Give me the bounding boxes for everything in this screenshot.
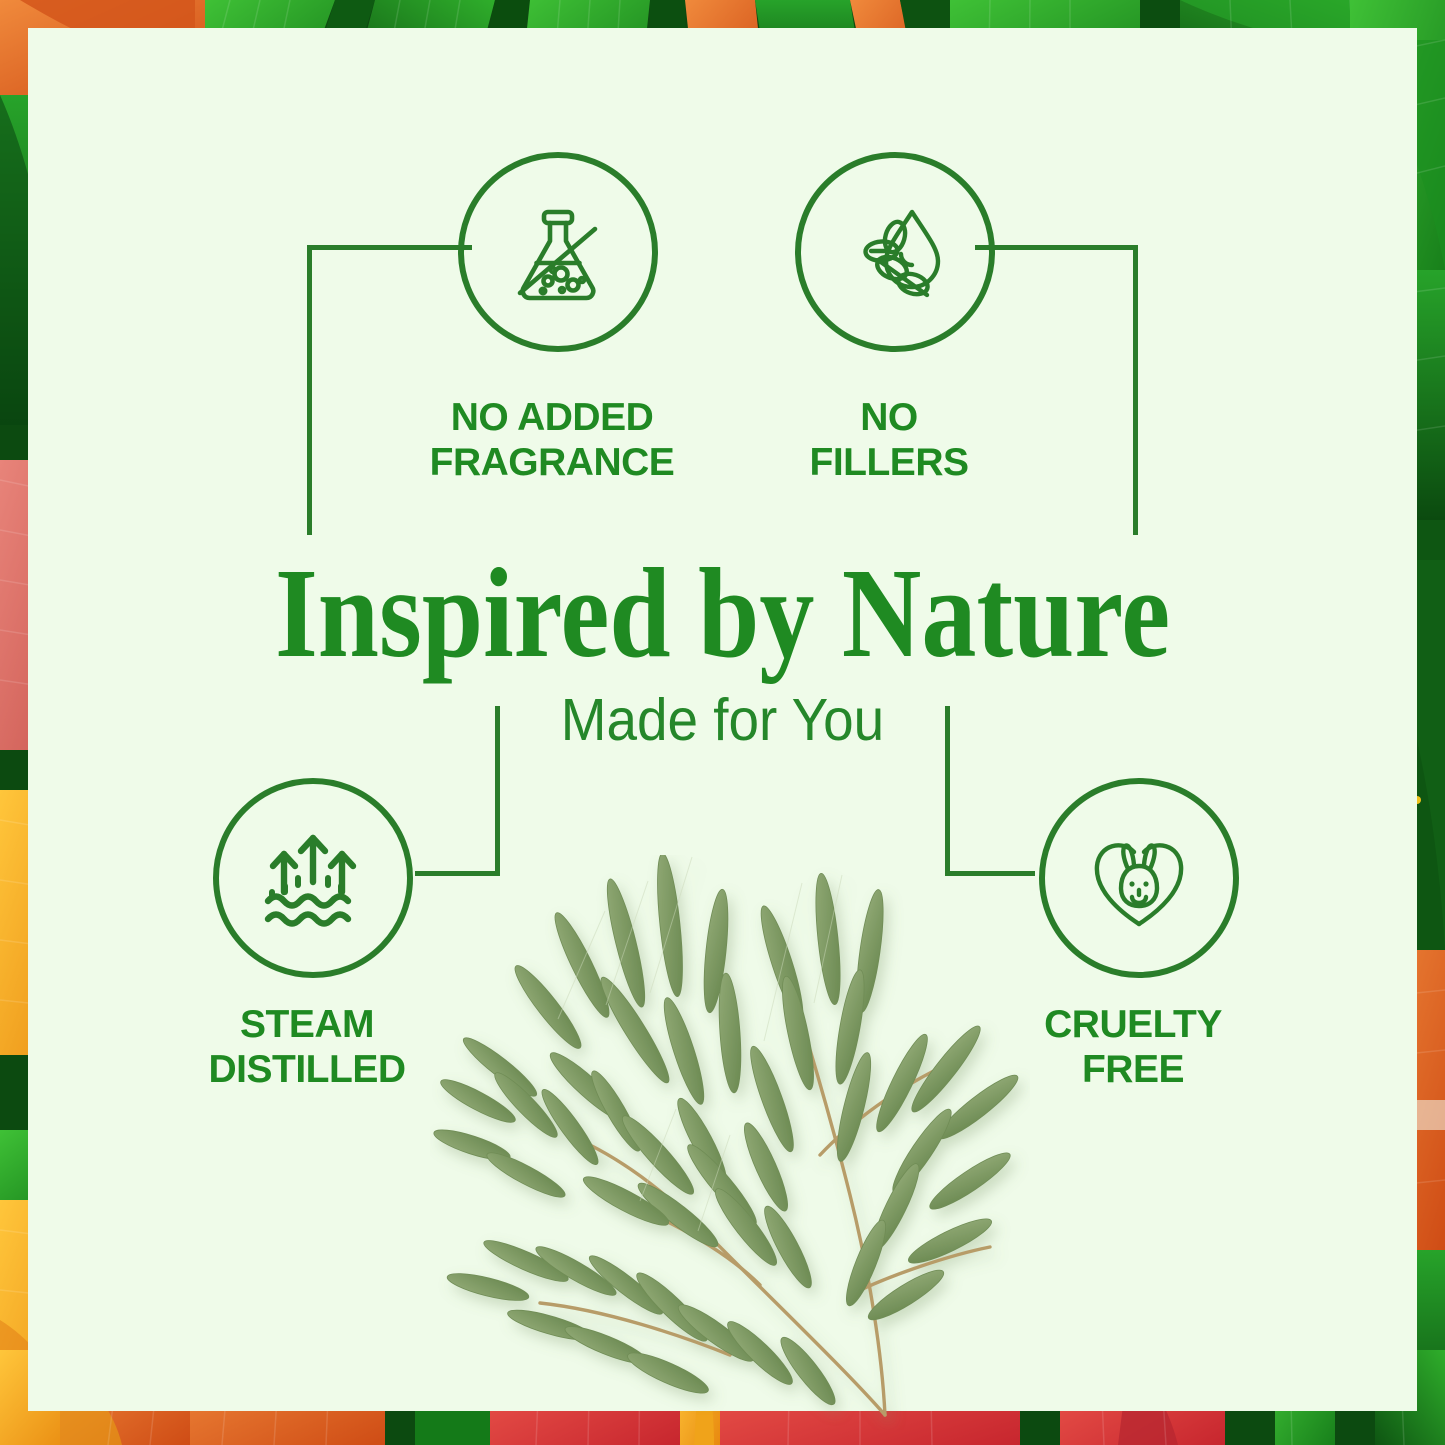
page-title: Inspired by Nature [101, 549, 1344, 677]
no-chemicals-flask-icon [498, 192, 618, 312]
caption-line: DISTILLED [107, 1047, 507, 1092]
bunny-heart-icon [1077, 816, 1201, 940]
badge-steam-distilled [213, 778, 413, 978]
caption-cruelty-free: CRUELTY FREE [933, 1002, 1333, 1092]
badge-cruelty-free [1039, 778, 1239, 978]
badge-no-added-fragrance [458, 152, 658, 352]
caption-line: FILLERS [689, 440, 1089, 485]
caption-line: NO [689, 395, 1089, 440]
caption-line: FREE [933, 1047, 1333, 1092]
caption-line: STEAM [107, 1002, 507, 1047]
promo-graphic: NO ADDED FRAGRANCE NO FILLERS Inspired b… [0, 0, 1445, 1445]
caption-steam-distilled: STEAM DISTILLED [107, 1002, 507, 1092]
caption-no-fillers: NO FILLERS [689, 395, 1089, 485]
caption-line: CRUELTY [933, 1002, 1333, 1047]
leaf-droplet-icon [835, 192, 955, 312]
badge-no-fillers [795, 152, 995, 352]
page-subtitle: Made for You [51, 686, 1395, 754]
tea-tree-branch-illustration [430, 855, 1030, 1430]
steam-waves-icon [251, 816, 375, 940]
